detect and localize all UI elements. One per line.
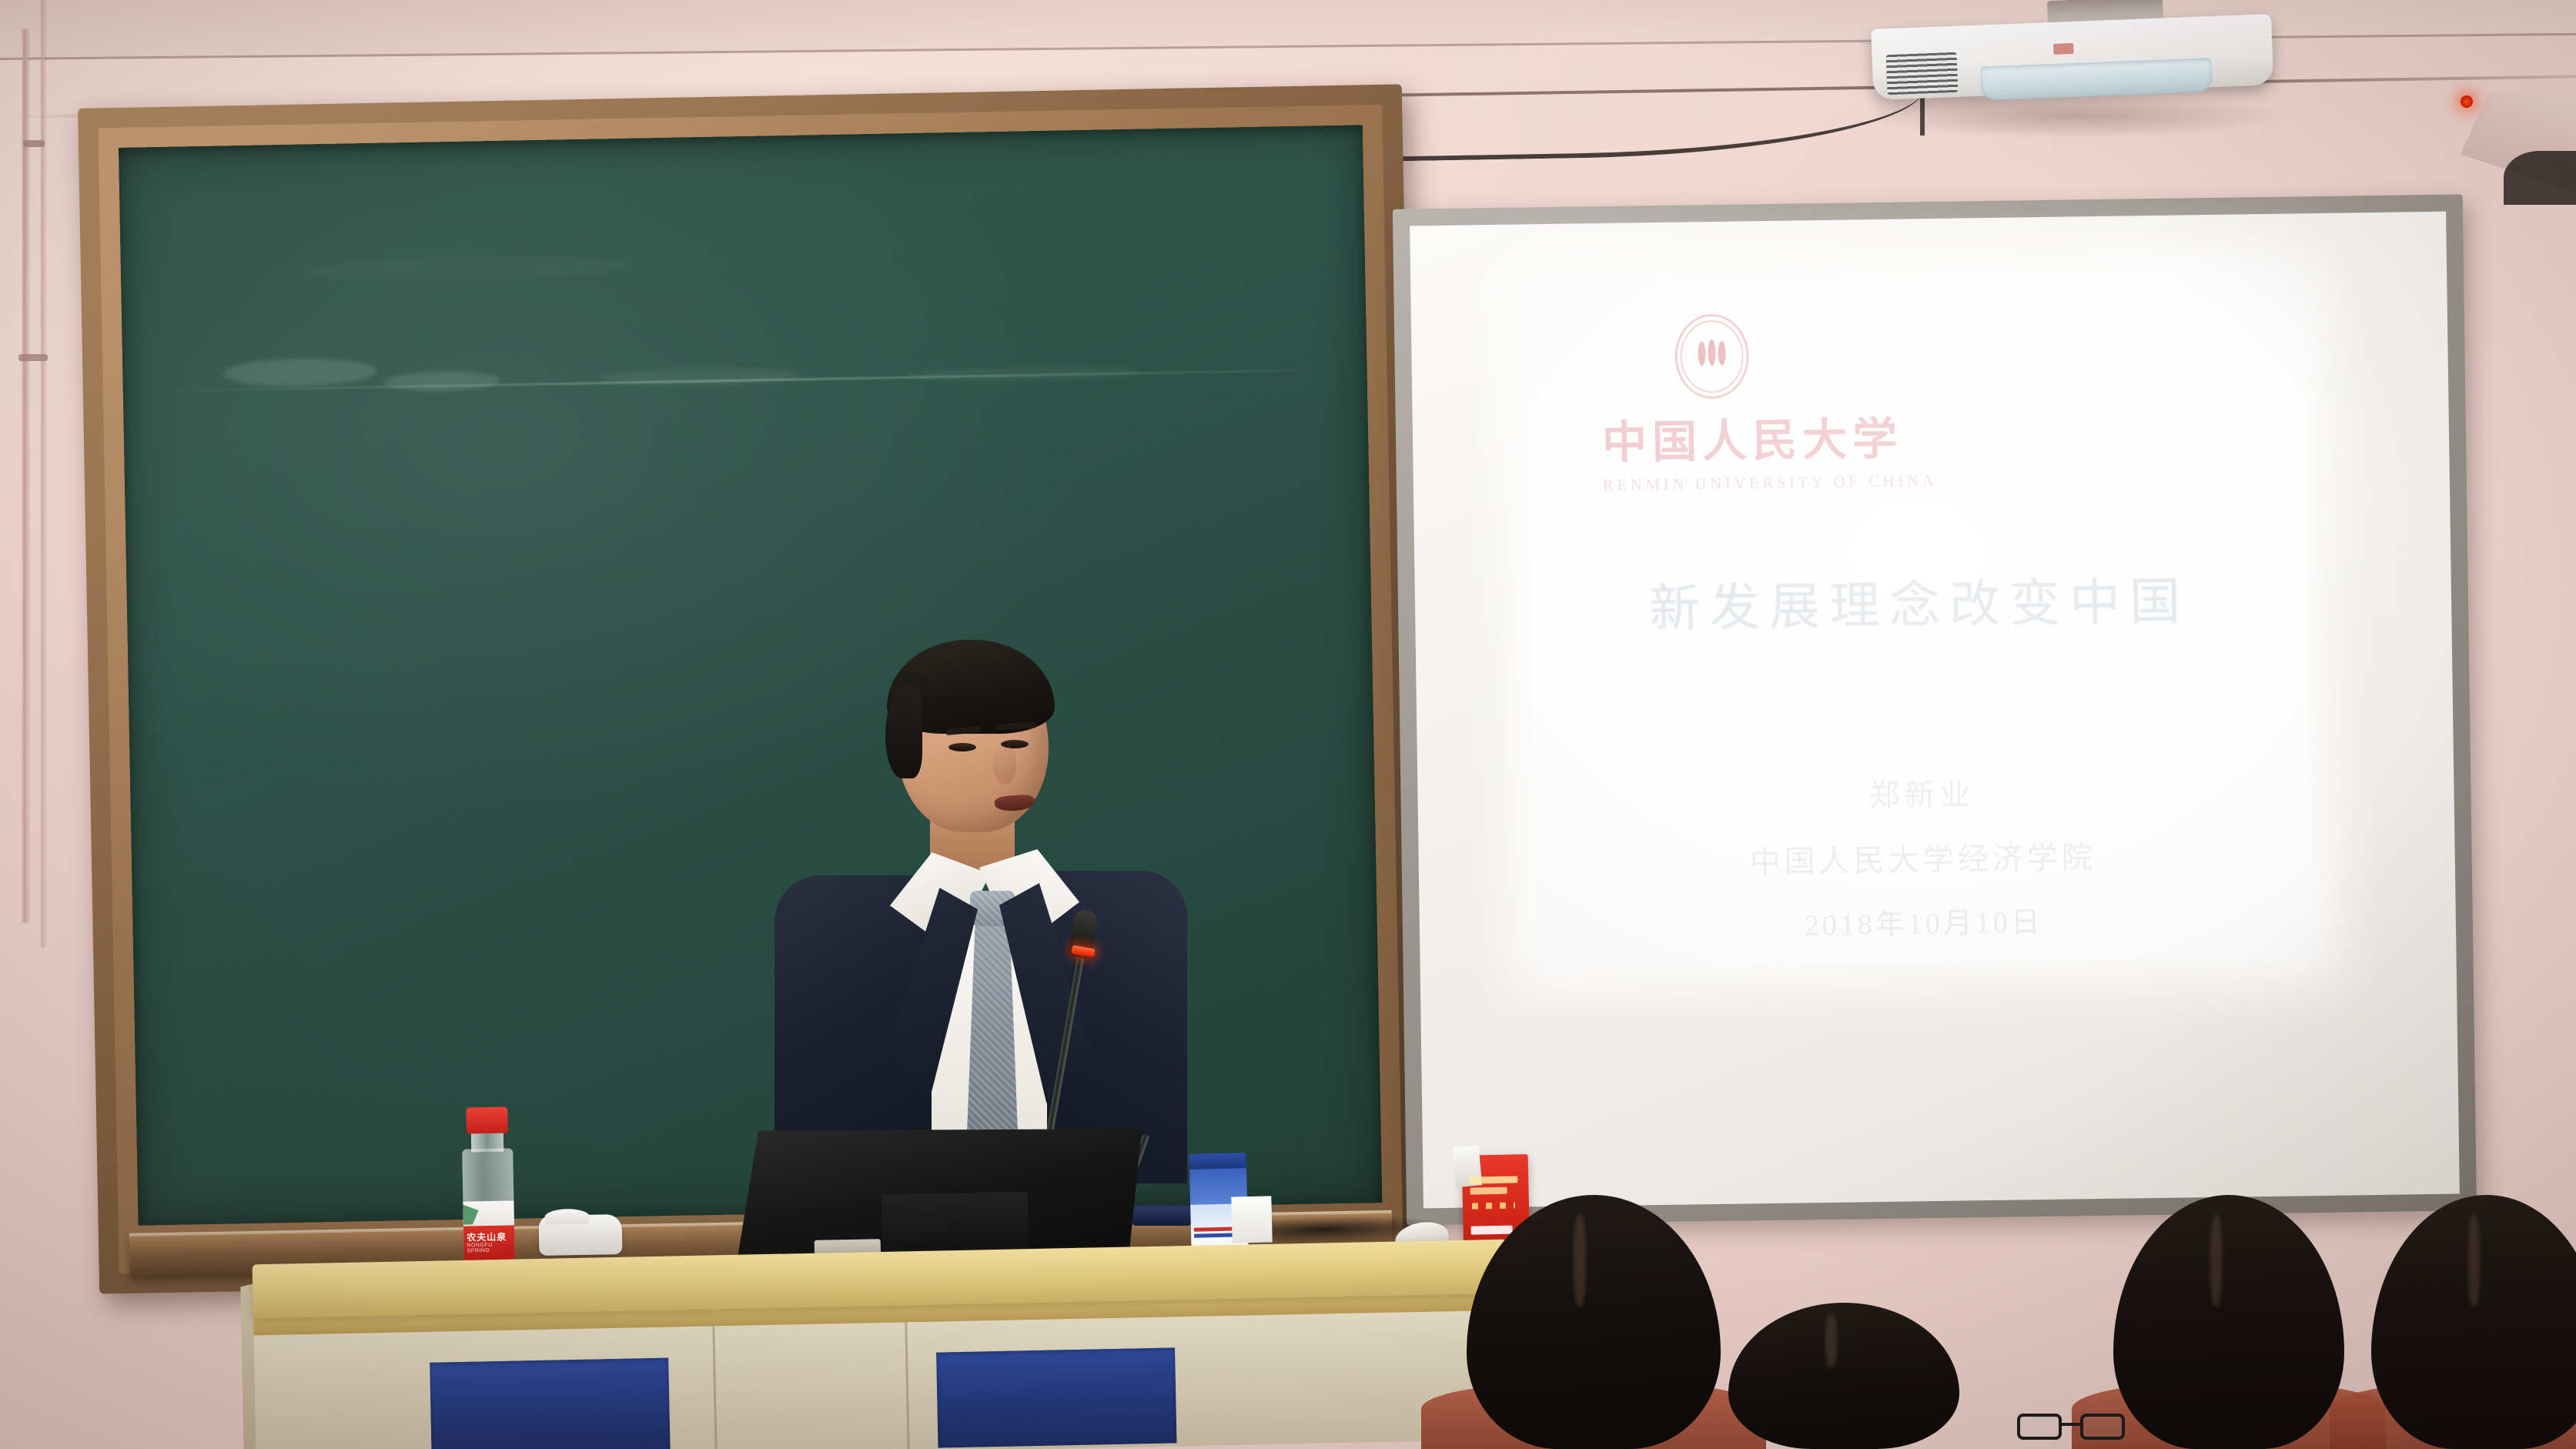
slide-presenter-name: 郑新业: [1533, 765, 2311, 820]
eye-left: [948, 743, 976, 751]
projection-screen: 中国人民大学 RENMIN UNIVERSITY OF CHINA 新发展理念改…: [1393, 194, 2477, 1225]
projector-brand-mark: [2053, 43, 2074, 55]
ceiling-projector: [1871, 0, 2275, 123]
audience-head: [2371, 1195, 2576, 1449]
conduit-clip: [18, 354, 48, 361]
podium-blue-panel: [936, 1347, 1176, 1447]
bottle-brand-en: NONGFU SPRING: [467, 1242, 514, 1253]
podium-blue-panel: [430, 1358, 670, 1449]
water-bottle: 农夫山泉 NONGFU SPRING: [457, 1106, 520, 1261]
white-container: [539, 1214, 623, 1256]
audience-head: [2113, 1195, 2344, 1449]
conduit-clip-upper: [23, 140, 45, 147]
mouth: [994, 794, 1035, 812]
presenter-person: [739, 643, 1216, 1182]
nose: [993, 745, 1016, 785]
slide-title: 新发展理念改变中国: [1530, 558, 2308, 643]
bottle-label-lower: 农夫山泉 NONGFU SPRING: [463, 1225, 515, 1261]
corner-fixture: [2504, 151, 2576, 205]
status-led-indicator: [2461, 95, 2473, 108]
white-container-lid: [544, 1209, 589, 1225]
slide-date: 2018年10月10日: [1534, 894, 2313, 947]
lecture-hall-scene: 中国人民大学 RENMIN UNIVERSITY OF CHINA 新发展理念改…: [0, 0, 2576, 1449]
projected-slide: 中国人民大学 RENMIN UNIVERSITY OF CHINA 新发展理念改…: [1526, 272, 2313, 968]
slide-affiliation: 中国人民大学经济学院: [1534, 829, 2312, 885]
eyeglasses-icon: [2017, 1414, 2125, 1441]
lecture-podium: [253, 1240, 1511, 1449]
audience-head: [1467, 1195, 1721, 1449]
university-logo: 中国人民大学 RENMIN UNIVERSITY OF CHINA: [1601, 312, 1857, 495]
slide-metadata: 郑新业 中国人民大学经济学院 2018年10月10日: [1533, 765, 2313, 947]
bottle-neck: [471, 1132, 503, 1153]
audience-head: [1728, 1303, 1959, 1449]
bottle-cap: [466, 1107, 508, 1134]
white-paper-card: [1231, 1196, 1272, 1243]
logo-chinese-name: 中国人民大学: [1601, 403, 1856, 471]
ruc-emblem-icon: [1674, 313, 1750, 399]
logo-english-name: RENMIN UNIVERSITY OF CHINA: [1603, 472, 1857, 495]
wall-conduit-pipe: [22, 29, 28, 922]
hair-sideburn: [885, 686, 922, 778]
projector-vent-icon: [1885, 52, 1958, 95]
